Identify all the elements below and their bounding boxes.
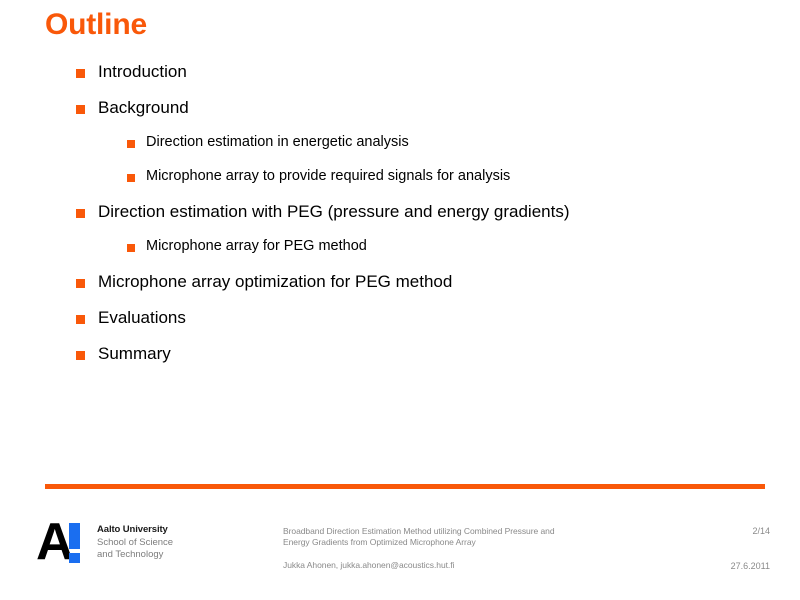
list-item: Direction estimation with PEG (pressure … — [0, 202, 800, 238]
footer-divider — [45, 484, 765, 489]
list-item: Summary — [0, 344, 800, 380]
footer-center-block: Broadband Direction Estimation Method ut… — [283, 526, 683, 571]
list-item: Direction estimation in energetic analys… — [0, 134, 800, 168]
bullet-square-icon — [76, 69, 85, 78]
logo-mark: A — [36, 520, 88, 566]
presentation-date: 27.6.2011 — [690, 561, 770, 572]
bullet-square-icon — [127, 244, 135, 252]
list-item: Microphone array for PEG method — [0, 238, 800, 272]
list-item: Introduction — [0, 62, 800, 98]
aalto-logo: A Aalto University School of Science and… — [36, 520, 173, 566]
bullet-square-icon — [76, 315, 85, 324]
organization-name: Aalto University — [97, 524, 173, 537]
bullet-square-icon — [127, 174, 135, 182]
list-item: Microphone array to provide required sig… — [0, 168, 800, 202]
list-item-label: Summary — [98, 344, 171, 363]
list-item: Microphone array optimization for PEG me… — [0, 272, 800, 308]
outline-list: Introduction Background Direction estima… — [0, 62, 800, 380]
list-item-label: Microphone array optimization for PEG me… — [98, 272, 452, 291]
list-item-label: Direction estimation with PEG (pressure … — [98, 202, 570, 221]
list-item-label: Microphone array for PEG method — [146, 238, 367, 255]
list-item-label: Direction estimation in energetic analys… — [146, 134, 409, 151]
page-title: Outline — [45, 8, 147, 41]
bullet-square-icon — [76, 351, 85, 360]
bullet-square-icon — [76, 279, 85, 288]
organization-unit-line-2: and Technology — [97, 549, 173, 562]
bullet-square-icon — [127, 140, 135, 148]
list-item: Evaluations — [0, 308, 800, 344]
list-item: Background — [0, 98, 800, 134]
list-item-label: Introduction — [98, 62, 187, 81]
author-contact: Jukka Ahonen, jukka.ahonen@acoustics.hut… — [283, 560, 683, 571]
aalto-exclamation-icon — [69, 523, 80, 563]
list-item-label: Background — [98, 98, 189, 117]
logo-letter-a: A — [36, 516, 73, 568]
exclamation-stem — [69, 523, 80, 549]
paper-title-line-1: Broadband Direction Estimation Method ut… — [283, 526, 683, 537]
list-item-label: Microphone array to provide required sig… — [146, 168, 510, 185]
organization-text: Aalto University School of Science and T… — [97, 524, 173, 562]
list-item-label: Evaluations — [98, 308, 186, 327]
page-number: 2/14 — [690, 526, 770, 537]
slide-footer: A Aalto University School of Science and… — [0, 512, 800, 592]
paper-title: Broadband Direction Estimation Method ut… — [283, 526, 683, 548]
organization-unit-line-1: School of Science — [97, 537, 173, 550]
paper-title-line-2: Energy Gradients from Optimized Micropho… — [283, 537, 683, 548]
bullet-square-icon — [76, 105, 85, 114]
footer-right-block: 2/14 27.6.2011 — [690, 526, 770, 572]
bullet-square-icon — [76, 209, 85, 218]
slide-canvas: Outline Introduction Background Directio… — [0, 0, 800, 600]
exclamation-dot — [69, 553, 80, 563]
